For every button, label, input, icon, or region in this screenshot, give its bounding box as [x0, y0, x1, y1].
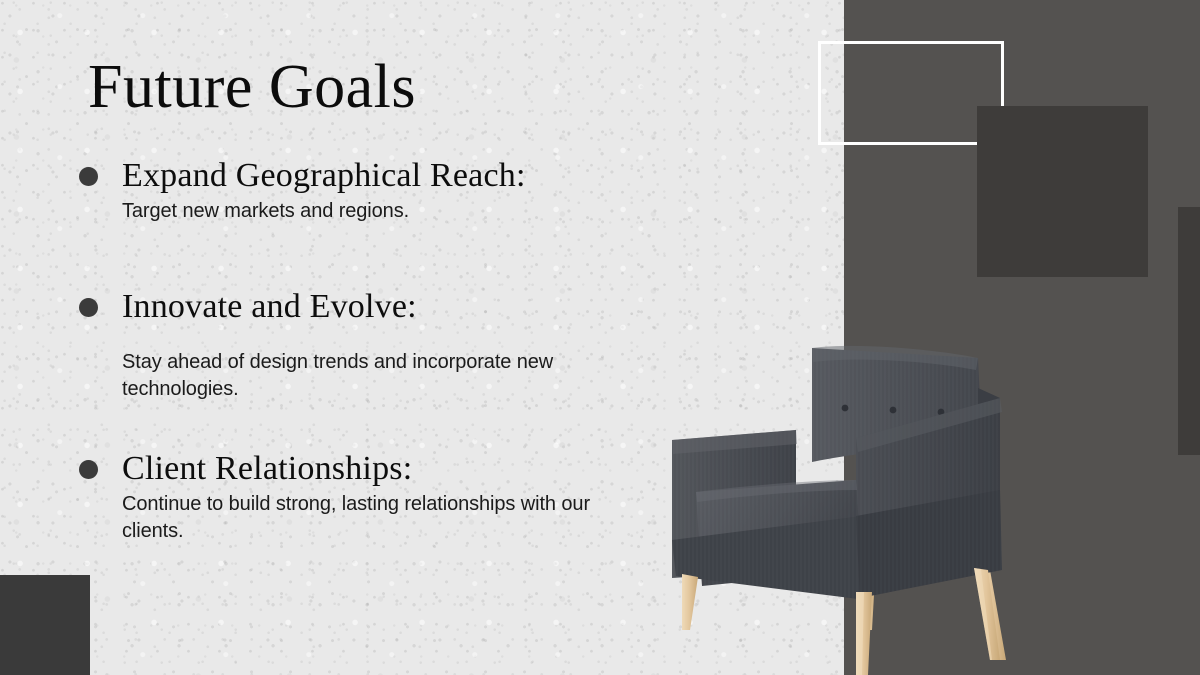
bullet-dot-icon: [79, 460, 98, 479]
bullet-heading: Innovate and Evolve:: [122, 287, 678, 327]
list-item: Innovate and Evolve: Stay ahead of desig…: [78, 287, 678, 403]
bullet-body: Target new markets and regions.: [122, 198, 642, 225]
armchair-image: [660, 330, 1020, 675]
bullet-heading: Client Relationships:: [122, 449, 678, 489]
list-item: Expand Geographical Reach: Target new ma…: [78, 156, 678, 225]
bullet-heading: Expand Geographical Reach:: [122, 156, 678, 196]
slide-canvas: Future Goals Expand Geographical Reach: …: [0, 0, 1200, 675]
bullet-dot-icon: [79, 167, 98, 186]
page-title: Future Goals: [88, 56, 416, 118]
list-item: Client Relationships: Continue to build …: [78, 449, 678, 545]
bullet-body: Continue to build strong, lasting relati…: [122, 491, 642, 545]
bullet-body: Stay ahead of design trends and incorpor…: [122, 349, 642, 403]
dark-accent-square: [977, 106, 1148, 277]
bullet-dot-icon: [79, 298, 98, 317]
bullet-list: Expand Geographical Reach: Target new ma…: [78, 156, 678, 549]
dark-edge-square: [1178, 207, 1200, 455]
text-content: Future Goals Expand Geographical Reach: …: [0, 0, 700, 675]
